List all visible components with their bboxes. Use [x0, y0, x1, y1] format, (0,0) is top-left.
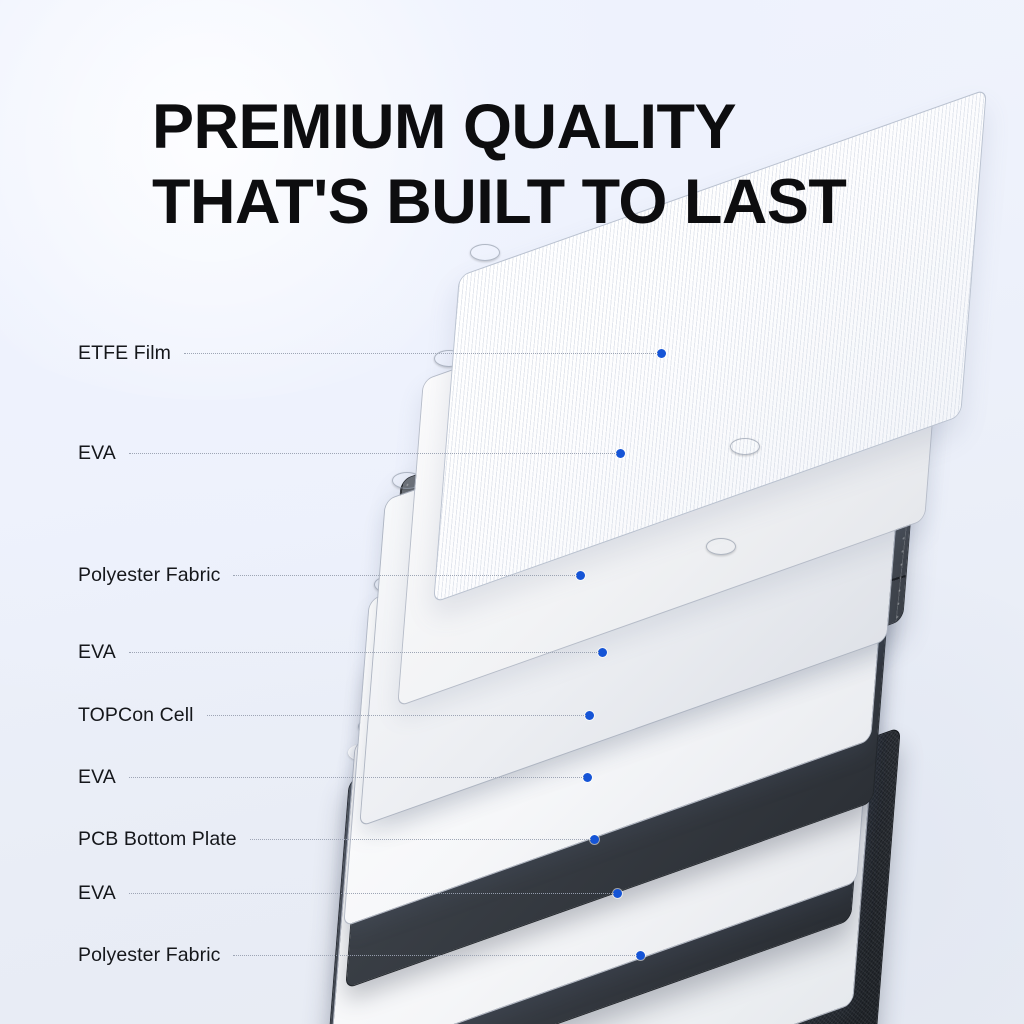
callout-label: ETFE Film: [78, 342, 171, 364]
callout-row[interactable]: EVA: [78, 882, 622, 904]
callout-leader-line: [129, 652, 599, 653]
callout-label: PCB Bottom Plate: [78, 828, 237, 850]
callout-marker-dot[interactable]: [613, 889, 622, 898]
callout-leader-line: [129, 453, 617, 454]
callout-row[interactable]: EVA: [78, 641, 607, 663]
callout-marker-dot[interactable]: [636, 951, 645, 960]
callout-marker-dot[interactable]: [585, 711, 594, 720]
callout-label: Polyester Fabric: [78, 944, 220, 966]
callout-marker-dot[interactable]: [616, 449, 625, 458]
callout-leader-line: [129, 893, 614, 894]
callout-leader-line: [184, 353, 658, 354]
callout-row[interactable]: EVA: [78, 766, 592, 788]
callout-marker-dot[interactable]: [590, 835, 599, 844]
callout-row[interactable]: PCB Bottom Plate: [78, 828, 599, 850]
callout-leader-line: [207, 715, 586, 716]
callout-marker-dot[interactable]: [657, 349, 666, 358]
callout-label: EVA: [78, 766, 116, 788]
callout-marker-dot[interactable]: [576, 571, 585, 580]
callout-label: TOPCon Cell: [78, 704, 194, 726]
callout-label: EVA: [78, 882, 116, 904]
callout-leader-line: [129, 777, 584, 778]
callout-leader-line: [233, 955, 636, 956]
callout-list: ETFE FilmEVAPolyester FabricEVATOPCon Ce…: [0, 0, 1024, 1024]
callout-row[interactable]: TOPCon Cell: [78, 704, 594, 726]
callout-leader-line: [233, 575, 576, 576]
callout-label: EVA: [78, 641, 116, 663]
callout-row[interactable]: EVA: [78, 442, 625, 464]
callout-row[interactable]: Polyester Fabric: [78, 564, 585, 586]
callout-row[interactable]: Polyester Fabric: [78, 944, 645, 966]
callout-marker-dot[interactable]: [598, 648, 607, 657]
callout-marker-dot[interactable]: [583, 773, 592, 782]
callout-row[interactable]: ETFE Film: [78, 342, 666, 364]
page-canvas: PREMIUM QUALITY THAT'S BUILT TO LAST ETF…: [0, 0, 1024, 1024]
callout-label: Polyester Fabric: [78, 564, 220, 586]
callout-leader-line: [250, 839, 591, 840]
callout-label: EVA: [78, 442, 116, 464]
